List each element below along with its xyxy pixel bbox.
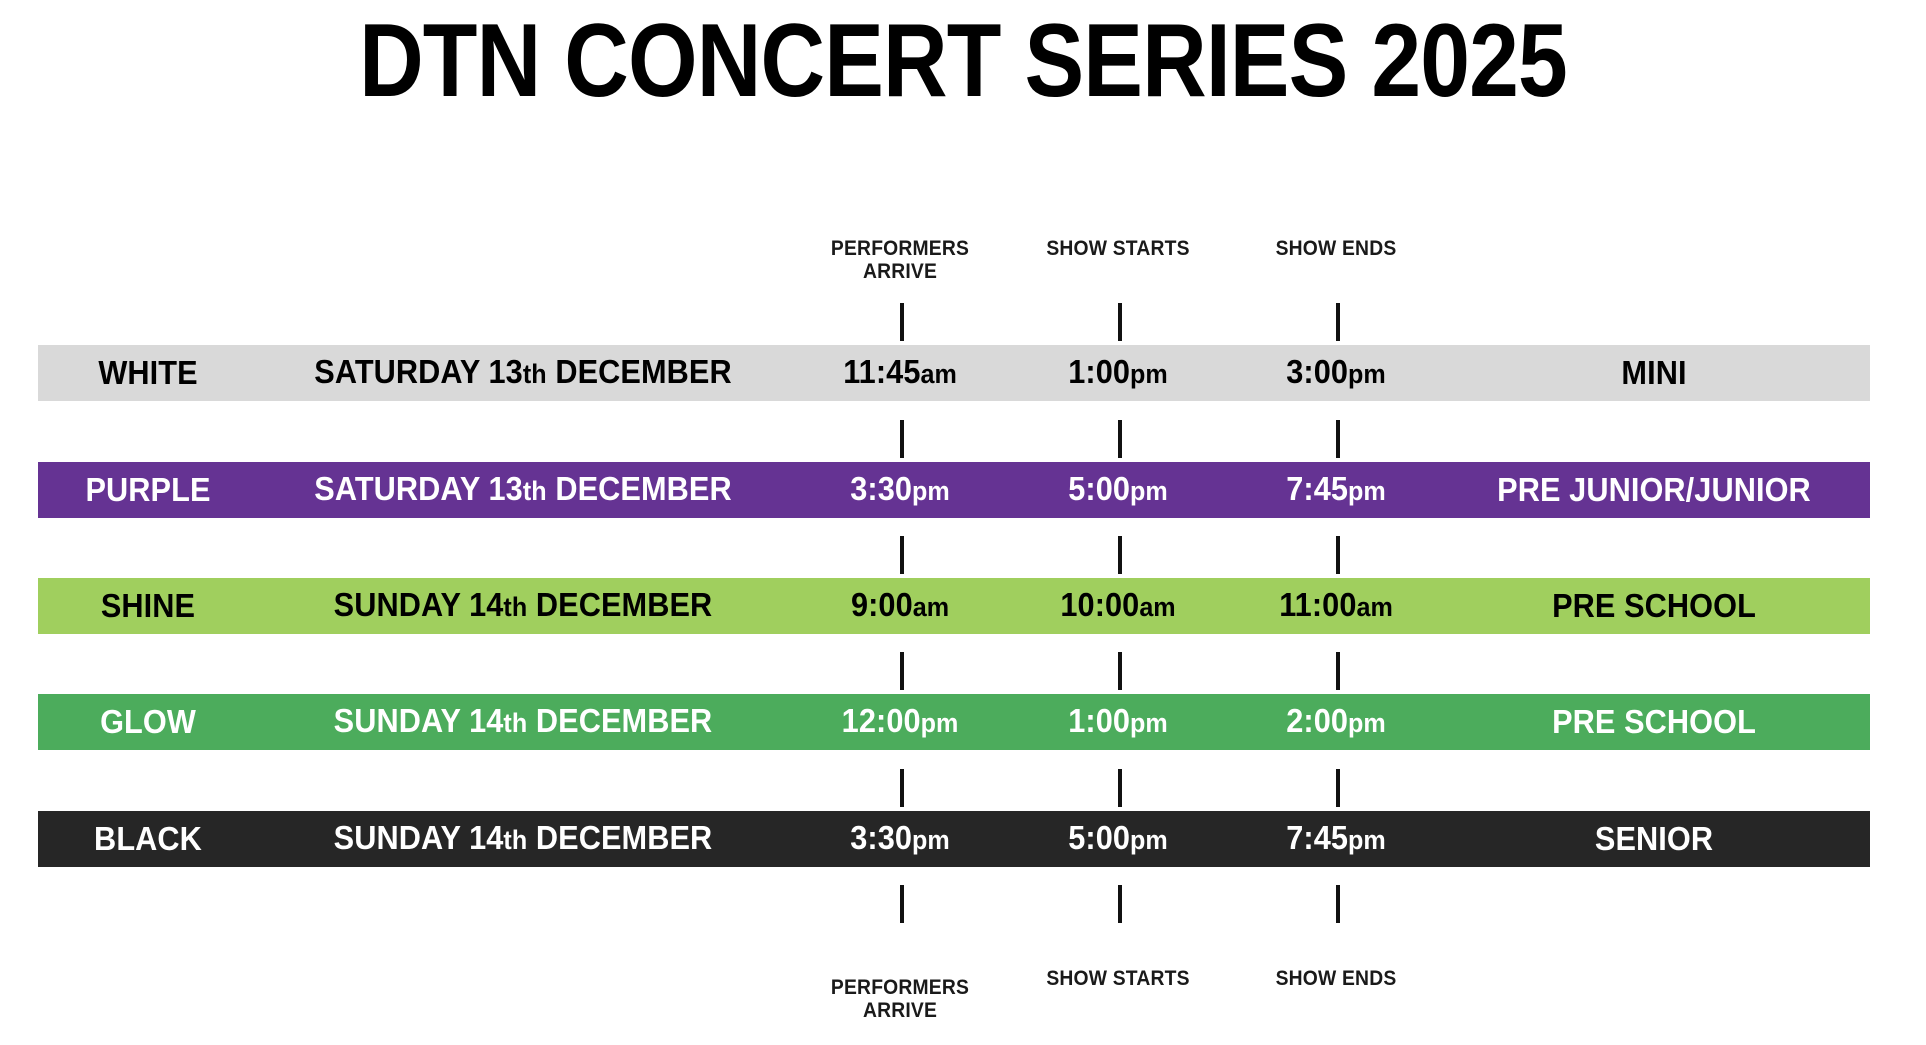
row-date-white: SATURDAY 13th DECEMBER bbox=[272, 344, 774, 402]
row-group-name-white: WHITE bbox=[46, 345, 251, 401]
row-category-glow: PRE SCHOOL bbox=[1453, 694, 1855, 750]
row-show-starts-glow: 1:00pm bbox=[1025, 693, 1211, 751]
row-group-name-purple: PURPLE bbox=[46, 462, 251, 518]
row-date-black: SUNDAY 14th DECEMBER bbox=[272, 810, 774, 868]
row-performers-arrive-white: 11:45am bbox=[807, 344, 993, 402]
column-header-show-ends-bottom: SHOW ENDS bbox=[1244, 967, 1428, 990]
row-performers-arrive-black: 3:30pm bbox=[807, 810, 993, 868]
row-show-starts-white: 1:00pm bbox=[1025, 344, 1211, 402]
row-category-black: SENIOR bbox=[1453, 811, 1855, 867]
column-header-show-ends-top: SHOW ENDS bbox=[1244, 237, 1428, 260]
tick-mark-r3-c1 bbox=[1118, 652, 1122, 690]
tick-mark-r5-c2 bbox=[1336, 885, 1340, 923]
column-header-performers-arrive-bottom-line1: PERFORMERS bbox=[831, 976, 969, 999]
row-group-name-shine: SHINE bbox=[46, 578, 251, 634]
tick-mark-r2-c1 bbox=[1118, 536, 1122, 574]
row-show-ends-purple: 7:45pm bbox=[1243, 461, 1429, 519]
tick-mark-r5-c1 bbox=[1118, 885, 1122, 923]
tick-mark-r1-c1 bbox=[1118, 420, 1122, 458]
tick-mark-r0-c1 bbox=[1118, 303, 1122, 341]
row-category-purple: PRE JUNIOR/JUNIOR bbox=[1453, 462, 1855, 518]
row-show-starts-black: 5:00pm bbox=[1025, 810, 1211, 868]
table-row: GLOWSUNDAY 14th DECEMBER12:00pm1:00pm2:0… bbox=[38, 694, 1870, 750]
column-header-performers-arrive-bottom: PERFORMERS ARRIVE bbox=[808, 953, 992, 1045]
concert-schedule-poster: DTN CONCERT SERIES 2025 PERFORMERS ARRIV… bbox=[0, 0, 1926, 1036]
column-header-performers-arrive-line1: PERFORMERS bbox=[831, 237, 969, 260]
row-performers-arrive-purple: 3:30pm bbox=[807, 461, 993, 519]
row-date-purple: SATURDAY 13th DECEMBER bbox=[272, 461, 774, 519]
tick-mark-r3-c0 bbox=[900, 652, 904, 690]
row-category-white: MINI bbox=[1453, 345, 1855, 401]
row-show-starts-purple: 5:00pm bbox=[1025, 461, 1211, 519]
row-date-glow: SUNDAY 14th DECEMBER bbox=[272, 693, 774, 751]
row-date-shine: SUNDAY 14th DECEMBER bbox=[272, 577, 774, 635]
tick-mark-r5-c0 bbox=[900, 885, 904, 923]
row-show-ends-shine: 11:00am bbox=[1243, 577, 1429, 635]
tick-mark-r1-c0 bbox=[900, 420, 904, 458]
table-row: WHITESATURDAY 13th DECEMBER11:45am1:00pm… bbox=[38, 345, 1870, 401]
column-header-performers-arrive-top: PERFORMERS ARRIVE bbox=[808, 214, 992, 306]
column-header-performers-arrive-line2: ARRIVE bbox=[808, 260, 992, 283]
tick-mark-r0-c0 bbox=[900, 303, 904, 341]
table-row: SHINESUNDAY 14th DECEMBER9:00am10:00am11… bbox=[38, 578, 1870, 634]
row-show-ends-white: 3:00pm bbox=[1243, 344, 1429, 402]
column-header-performers-arrive-bottom-line2: ARRIVE bbox=[808, 999, 992, 1022]
tick-mark-r4-c1 bbox=[1118, 769, 1122, 807]
tick-mark-r4-c0 bbox=[900, 769, 904, 807]
tick-mark-r2-c0 bbox=[900, 536, 904, 574]
tick-mark-r1-c2 bbox=[1336, 420, 1340, 458]
column-header-show-starts-top: SHOW STARTS bbox=[1026, 237, 1210, 260]
row-category-shine: PRE SCHOOL bbox=[1453, 578, 1855, 634]
row-group-name-glow: GLOW bbox=[46, 694, 251, 750]
row-performers-arrive-shine: 9:00am bbox=[807, 577, 993, 635]
row-show-ends-glow: 2:00pm bbox=[1243, 693, 1429, 751]
tick-mark-r4-c2 bbox=[1336, 769, 1340, 807]
column-header-show-starts-bottom: SHOW STARTS bbox=[1026, 967, 1210, 990]
row-group-name-black: BLACK bbox=[46, 811, 251, 867]
row-show-ends-black: 7:45pm bbox=[1243, 810, 1429, 868]
page-title: DTN CONCERT SERIES 2025 bbox=[135, 6, 1791, 116]
tick-mark-r3-c2 bbox=[1336, 652, 1340, 690]
row-performers-arrive-glow: 12:00pm bbox=[807, 693, 993, 751]
row-show-starts-shine: 10:00am bbox=[1025, 577, 1211, 635]
tick-mark-r0-c2 bbox=[1336, 303, 1340, 341]
table-row: PURPLESATURDAY 13th DECEMBER3:30pm5:00pm… bbox=[38, 462, 1870, 518]
tick-mark-r2-c2 bbox=[1336, 536, 1340, 574]
table-row: BLACKSUNDAY 14th DECEMBER3:30pm5:00pm7:4… bbox=[38, 811, 1870, 867]
